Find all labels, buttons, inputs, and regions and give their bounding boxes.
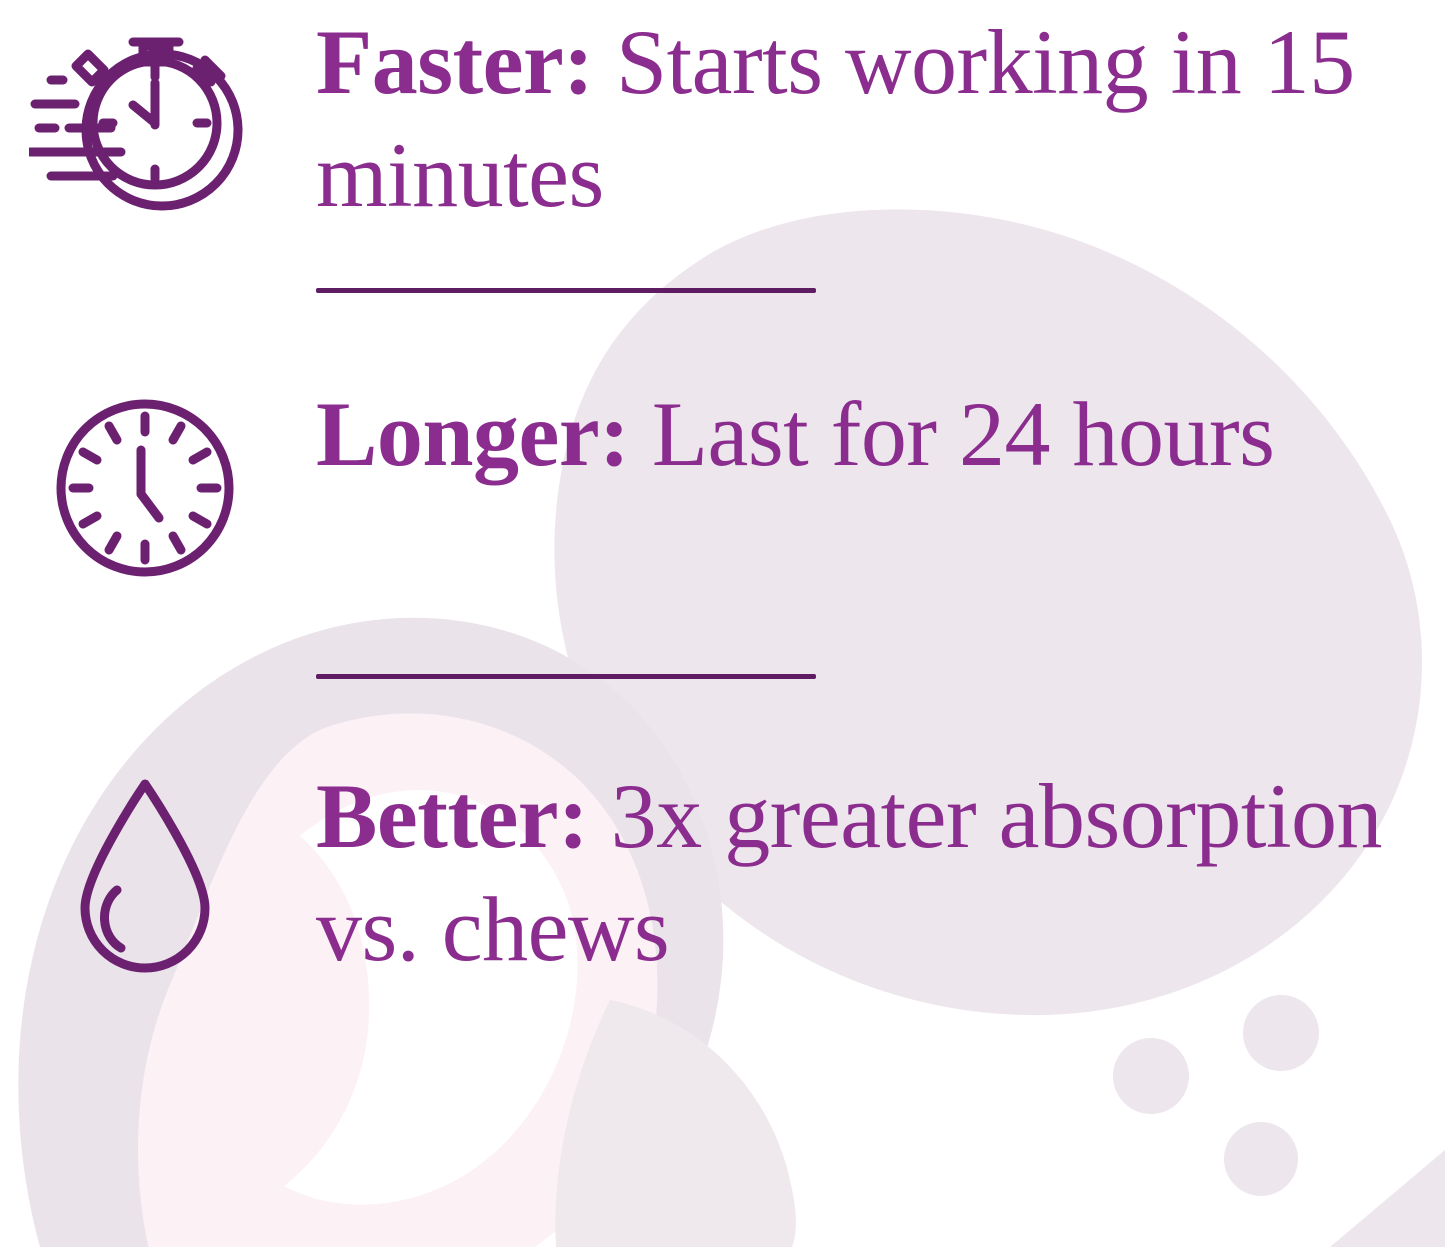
benefit-body-faster [593, 11, 616, 113]
benefit-row-faster: Faster: Starts working in 15 minutes [0, 0, 1445, 270]
benefit-headline-better: Better: 3x greater absorption vs. chews [316, 760, 1436, 986]
divider-1 [316, 288, 816, 293]
stopwatch-icon [10, 18, 280, 218]
benefit-row-longer: Longer: Last for 24 hours [0, 378, 1445, 648]
benefit-space-better [588, 765, 611, 867]
clock-icon [10, 388, 280, 588]
benefit-lead-longer: Longer: [316, 383, 629, 485]
droplet-icon [10, 772, 280, 982]
benefit-lead-better: Better: [316, 765, 588, 867]
benefit-headline-longer: Longer: Last for 24 hours [316, 378, 1436, 491]
benefit-body-text-longer: Last for 24 hours [652, 383, 1275, 485]
infographic-canvas: Faster: Starts working in 15 minutes [0, 0, 1445, 1247]
benefit-row-better: Better: 3x greater absorption vs. chews [0, 760, 1445, 1040]
benefit-lead-faster: Faster: [316, 11, 593, 113]
benefit-text-better: Better: 3x greater absorption vs. chews [316, 760, 1436, 986]
benefit-text-faster: Faster: Starts working in 15 minutes [316, 6, 1436, 232]
benefit-text-longer: Longer: Last for 24 hours [316, 378, 1436, 491]
benefit-space-longer [629, 383, 652, 485]
benefit-headline-faster: Faster: Starts working in 15 minutes [316, 6, 1436, 232]
divider-2 [316, 674, 816, 679]
